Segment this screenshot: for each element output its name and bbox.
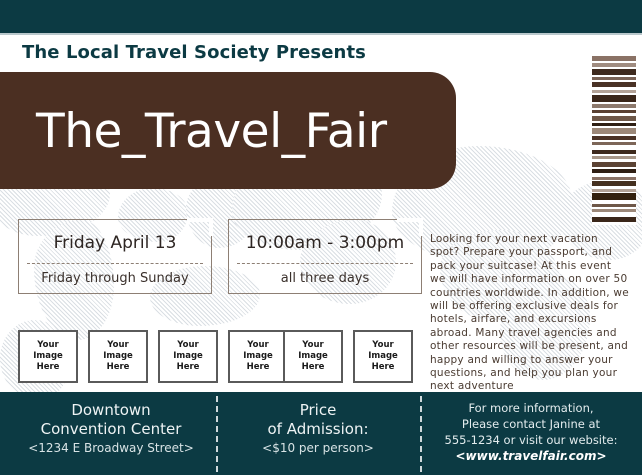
presenter-heading: The Local Travel Society Presents <box>22 38 582 68</box>
image-placeholder[interactable]: YourImageHere <box>88 330 148 383</box>
contact-line-3: 555-1234 or visit our website: <box>424 432 638 448</box>
footer-price: Price of Admission: <$10 per person> <box>218 401 418 457</box>
image-placeholder[interactable]: YourImageHere <box>158 330 218 383</box>
venue-address: <1234 E Broadway Street> <box>8 439 214 457</box>
price-amount: <$10 per person> <box>218 439 418 457</box>
date-secondary-text: Friday through Sunday <box>19 265 211 293</box>
image-placeholder-label: YourImageHere <box>20 332 76 373</box>
image-placeholder-label: YourImageHere <box>230 332 286 373</box>
footer-divider <box>420 396 422 472</box>
time-primary-text: 10:00am - 3:00pm <box>229 226 421 260</box>
image-placeholder[interactable]: YourImageHere <box>353 330 413 383</box>
travel-fair-poster: The Local Travel Society Presents The_Tr… <box>0 0 642 475</box>
image-placeholder-label: YourImageHere <box>355 332 411 373</box>
footer-contact: For more information, Please contact Jan… <box>424 400 638 465</box>
top-band <box>0 0 642 33</box>
contact-line-2: Please contact Janine at <box>424 416 638 432</box>
footer-venue: Downtown Convention Center <1234 E Broad… <box>8 401 214 457</box>
date-primary-text: Friday April 13 <box>19 226 211 260</box>
image-placeholder[interactable]: YourImageHere <box>283 330 343 383</box>
price-line-1: Price <box>218 401 418 420</box>
image-placeholder-label: YourImageHere <box>160 332 216 373</box>
image-placeholder-label: YourImageHere <box>285 332 341 373</box>
image-placeholder[interactable]: YourImageHere <box>228 330 288 383</box>
event-description: Looking for your next vacation spot? Pre… <box>430 233 630 394</box>
date-info-box: Friday April 13 Friday through Sunday <box>18 219 212 294</box>
contact-website[interactable]: <www.travelfair.com> <box>424 448 638 465</box>
date-box-divider <box>27 263 203 264</box>
contact-line-1: For more information, <box>424 400 638 416</box>
image-placeholder-label: YourImageHere <box>90 332 146 373</box>
time-box-divider <box>237 263 413 264</box>
time-info-box: 10:00am - 3:00pm all three days <box>228 219 422 294</box>
price-line-2: of Admission: <box>218 420 418 439</box>
venue-line-2: Convention Center <box>8 420 214 439</box>
barcode-icon <box>592 56 636 225</box>
barcode-bar <box>592 222 636 225</box>
top-band-underline <box>0 33 642 35</box>
image-placeholder[interactable]: YourImageHere <box>18 330 78 383</box>
venue-line-1: Downtown <box>8 401 214 420</box>
event-title: The_Travel_Fair <box>36 92 456 172</box>
time-secondary-text: all three days <box>229 265 421 293</box>
